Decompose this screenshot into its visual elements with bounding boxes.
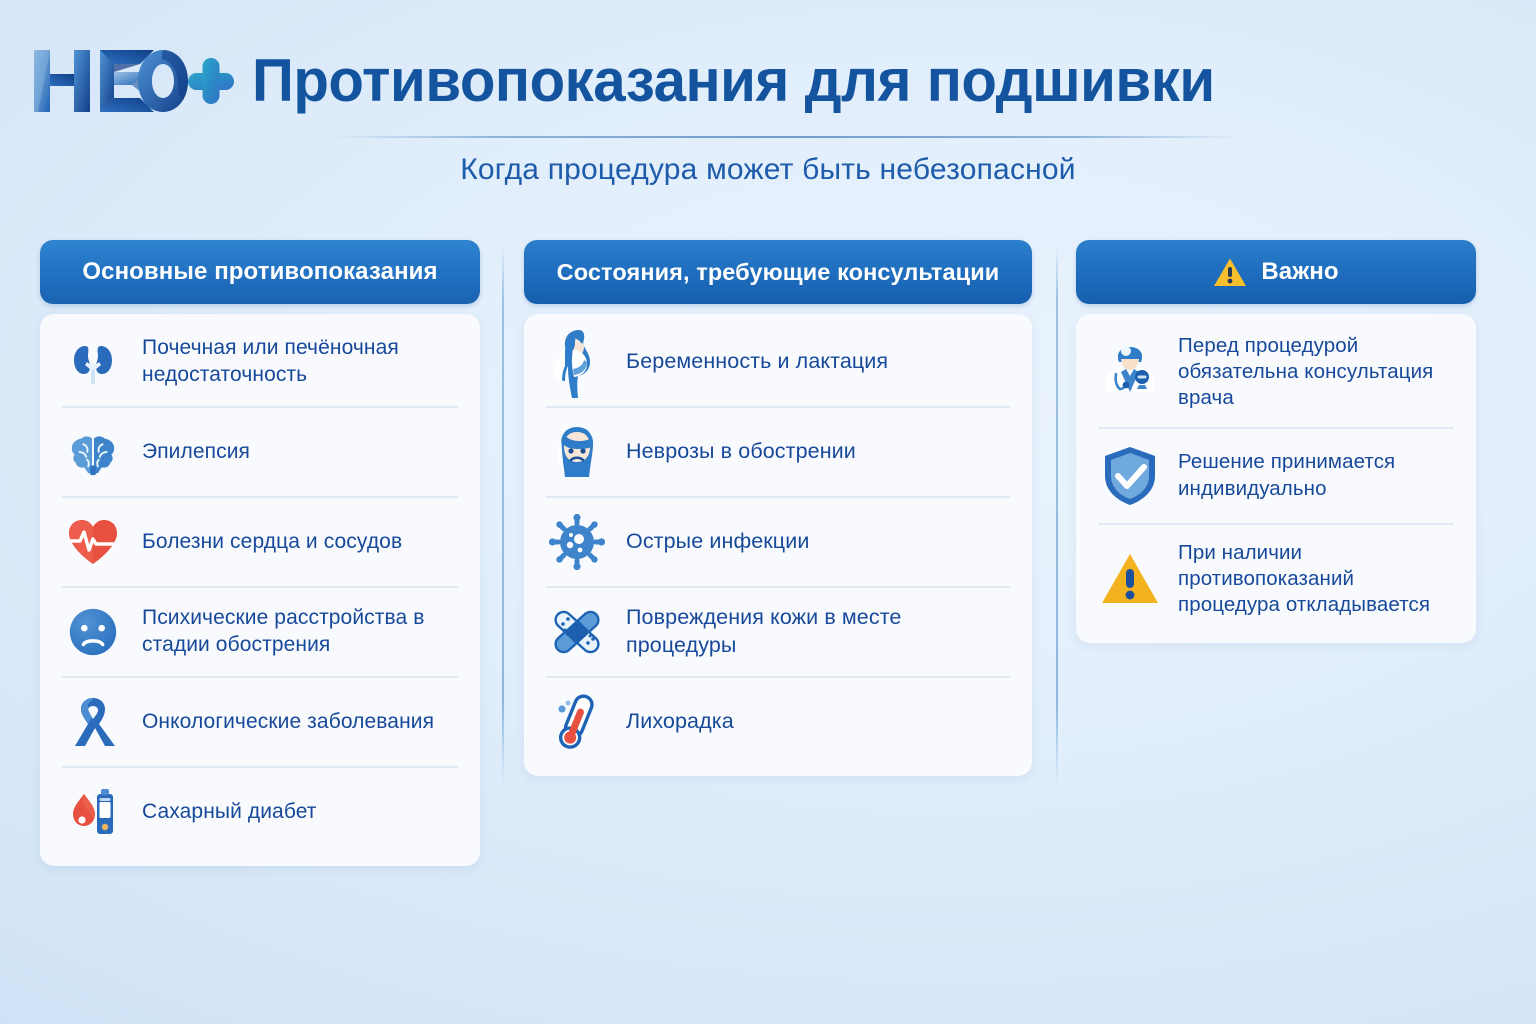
thermometer-icon (546, 691, 608, 753)
list-item[interactable]: Сахарный диабет (62, 768, 458, 856)
title-divider (330, 136, 1240, 138)
list-item-label: Неврозы в обострении (626, 438, 856, 466)
column-divider-2 (1056, 246, 1058, 784)
list-item[interactable]: Онкологические заболевания (62, 678, 458, 768)
list-item[interactable]: Повреждения кожи в месте процедуры (546, 588, 1010, 678)
doctor-icon (1098, 340, 1162, 404)
list-item-label: Сахарный диабет (142, 799, 317, 826)
neo-plus-logo-icon (30, 44, 236, 118)
column-header-label: Важно (1261, 258, 1338, 286)
column-header-2: Состояния, требующие консультации (524, 240, 1032, 304)
list-item[interactable]: Острые инфекции (546, 498, 1010, 588)
list-item-label: Онкологические заболевания (142, 709, 434, 736)
warning-triangle-icon (1213, 257, 1247, 288)
list-item[interactable]: Беременность и лактация (546, 318, 1010, 408)
page-subtitle: Когда процедура может быть небезопасной (0, 153, 1536, 187)
distressed-woman-icon (546, 421, 608, 483)
list-item-label: Беременность и лактация (626, 348, 888, 376)
infographic-poster: Противопоказания для подшивки Когда проц… (0, 0, 1536, 1024)
list-item[interactable]: Неврозы в обострении (546, 408, 1010, 498)
list-item-label: Психические расстройства в стадии обостр… (142, 605, 458, 659)
list-item[interactable]: Эпилепсия (62, 408, 458, 498)
list-item[interactable]: Болезни сердца и сосудов (62, 498, 458, 588)
list-item[interactable]: При наличии противопоказаний процедура о… (1098, 525, 1454, 634)
list-item-label: Эпилепсия (142, 439, 250, 466)
list-item-label: Лихорадка (626, 708, 734, 736)
sad-face-icon (62, 601, 124, 663)
column-body-2: Беременность и лактация (524, 314, 1032, 776)
column-body-1: Почечная или печёночная недостаточность (40, 314, 480, 866)
virus-icon (546, 511, 608, 573)
page-title: Противопоказания для подшивки (252, 51, 1215, 111)
list-item[interactable]: Психические расстройства в стадии обостр… (62, 588, 458, 678)
column-body-3: Перед процедурой обязательна консультаци… (1076, 314, 1476, 643)
list-item-label: Острые инфекции (626, 528, 809, 556)
heart-pulse-icon (62, 511, 124, 573)
kidneys-icon (62, 331, 124, 393)
list-item[interactable]: Почечная или печёночная недостаточность (62, 318, 458, 408)
column-important: Важно (1076, 240, 1476, 643)
column-divider-1 (502, 246, 504, 784)
list-item-label: Перед процедурой обязательна консультаци… (1178, 333, 1454, 412)
shield-check-icon (1098, 444, 1162, 508)
column-conditions-needing-consultation: Состояния, требующие консультации (524, 240, 1032, 776)
list-item-label: При наличии противопоказаний процедура о… (1178, 540, 1454, 619)
column-header-3: Важно (1076, 240, 1476, 304)
awareness-ribbon-icon (62, 691, 124, 753)
list-item-label: Повреждения кожи в месте процедуры (626, 604, 1010, 659)
list-item-label: Решение принимается индивидуально (1178, 449, 1454, 501)
list-item-label: Почечная или печёночная недостаточность (142, 335, 458, 389)
column-main-contraindications: Основные противопоказания Почечная или п… (40, 240, 480, 866)
column-header-1: Основные противопоказания (40, 240, 480, 304)
column-header-label: Состояния, требующие консультации (557, 259, 1000, 286)
poster-header: Противопоказания для подшивки Когда проц… (0, 0, 1536, 210)
list-item[interactable]: Лихорадка (546, 678, 1010, 766)
list-item[interactable]: Решение принимается индивидуально (1098, 429, 1454, 525)
title-row: Противопоказания для подшивки (30, 44, 1244, 118)
column-header-label: Основные противопоказания (82, 258, 437, 286)
pregnant-woman-icon (546, 331, 608, 393)
glucometer-blood-drop-icon (62, 781, 124, 843)
warning-triangle-icon (1098, 547, 1162, 611)
list-item-label: Болезни сердца и сосудов (142, 529, 402, 556)
bandages-icon (546, 601, 608, 663)
list-item[interactable]: Перед процедурой обязательна консультаци… (1098, 318, 1454, 429)
brain-icon (62, 421, 124, 483)
